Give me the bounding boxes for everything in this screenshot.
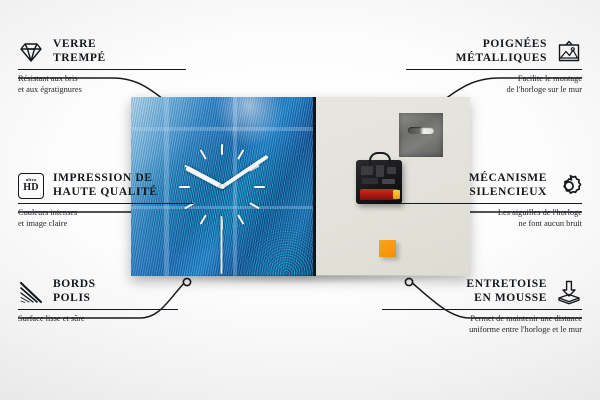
callout-header: MÉCANISME SILENCIEUX [367, 172, 582, 199]
callout-divider [18, 69, 186, 70]
callout-title: VERRE TREMPÉ [53, 38, 106, 65]
callout-entretoise-en-mousse: ENTRETOISE EN MOUSSE Permet de maintenir… [367, 278, 582, 335]
callout-divider [18, 203, 194, 204]
callout-subtitle: Permet de maintenir une distance uniform… [367, 314, 582, 335]
callout-subtitle: Résistant aux bris et aux égratignures [18, 74, 233, 95]
hanger-keyhole-slot [408, 127, 434, 134]
foam-spacer [379, 240, 396, 257]
callout-header: ultra HD IMPRESSION DE HAUTE QUALITÉ [18, 172, 233, 199]
callout-subtitle: Surface lisse et sûre [18, 314, 233, 324]
gear-icon [556, 173, 582, 199]
callout-header: POIGNÉES MÉTALLIQUES [367, 38, 582, 65]
arrow-down-onto-stack-icon [556, 279, 582, 305]
polished-edge-lines-icon [18, 279, 44, 305]
callout-header: ENTRETOISE EN MOUSSE [367, 278, 582, 305]
ultra-hd-big-text: HD [23, 183, 39, 193]
diamond-icon [18, 39, 44, 65]
ultra-hd-badge-icon: ultra HD [18, 173, 44, 199]
infographic-canvas: VERRE TREMPÉ Résistant aux bris et aux é… [0, 0, 600, 400]
metal-hanger-plate [399, 113, 443, 157]
callout-title: BORDS POLIS [53, 278, 96, 305]
callout-header: VERRE TREMPÉ [18, 38, 233, 65]
callout-subtitle: Facilite le montage de l'horloge sur le … [367, 74, 582, 95]
callout-title: IMPRESSION DE HAUTE QUALITÉ [53, 172, 158, 199]
callout-mecanisme-silencieux: MÉCANISME SILENCIEUX Les aiguilles de l'… [367, 172, 582, 229]
movement-hanging-loop [369, 152, 391, 165]
callout-title: ENTRETOISE EN MOUSSE [466, 278, 547, 305]
callout-poignees-metalliques: POIGNÉES MÉTALLIQUES Facilite le montage… [367, 38, 582, 95]
callout-subtitle: Couleurs intenses et image claire [18, 208, 233, 229]
callout-title: POIGNÉES MÉTALLIQUES [456, 38, 547, 65]
callout-bords-polis: BORDS POLIS Surface lisse et sûre [18, 278, 233, 325]
callout-divider [382, 309, 582, 310]
picture-frame-hanger-icon [556, 39, 582, 65]
callout-divider [18, 309, 178, 310]
callout-divider [406, 69, 582, 70]
callout-title: MÉCANISME SILENCIEUX [469, 172, 547, 199]
callout-verre-trempe: VERRE TREMPÉ Résistant aux bris et aux é… [18, 38, 233, 95]
callout-divider [399, 203, 582, 204]
callout-subtitle: Les aiguilles de l'horloge ne font aucun… [367, 208, 582, 229]
callout-header: BORDS POLIS [18, 278, 233, 305]
callout-impression-haute-qualite: ultra HD IMPRESSION DE HAUTE QUALITÉ Cou… [18, 172, 233, 229]
